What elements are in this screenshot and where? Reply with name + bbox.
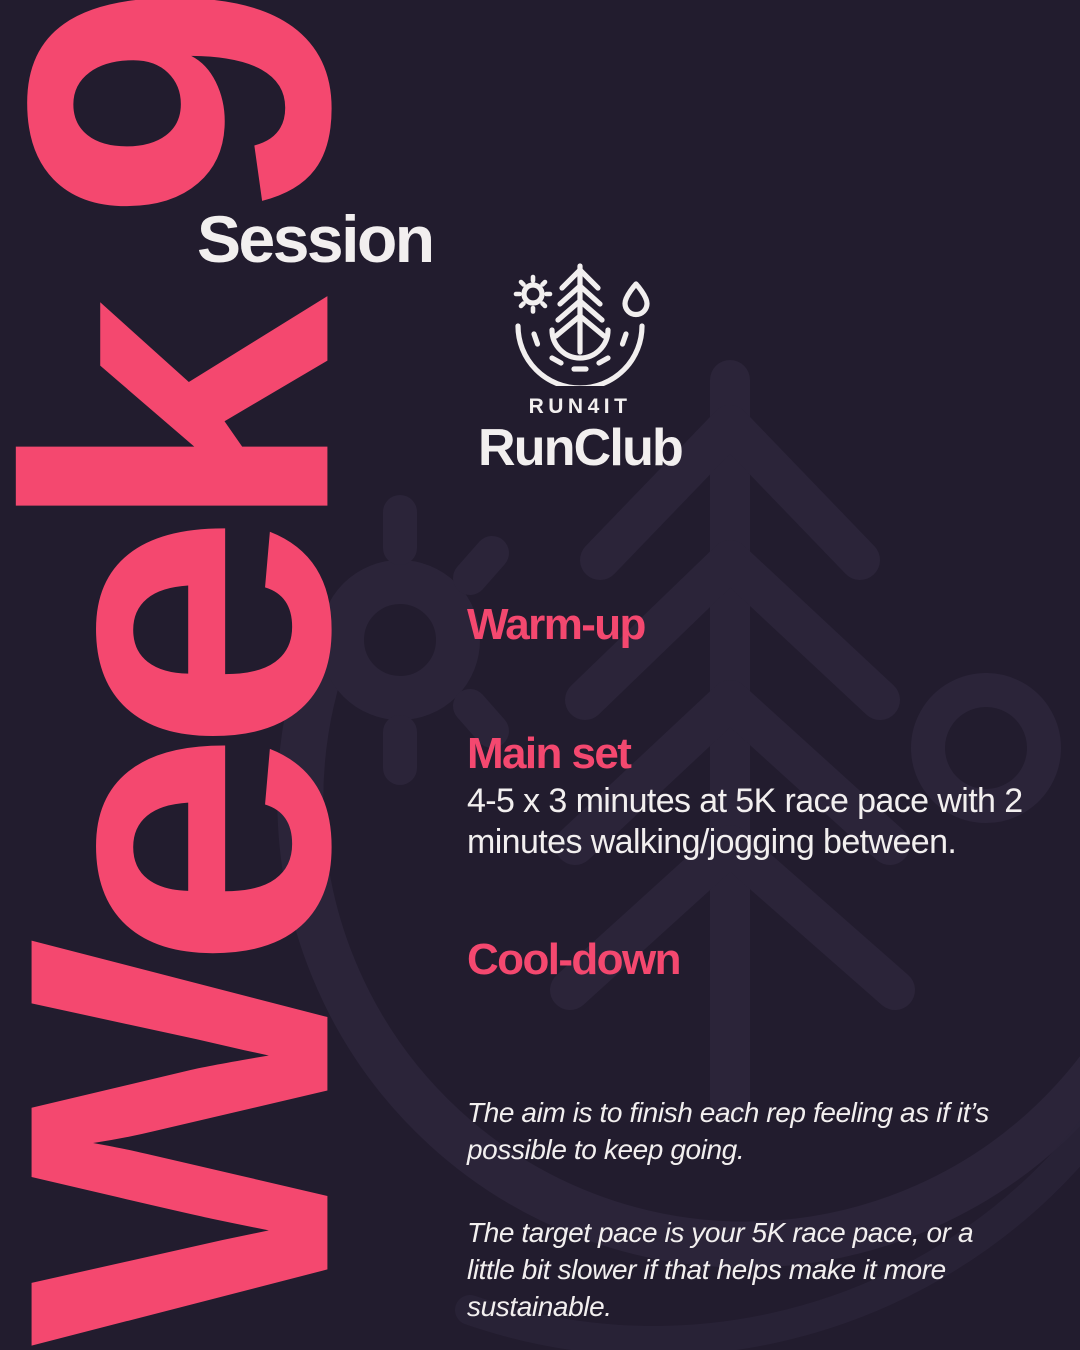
session-block-heading: Cool-down [467, 935, 1037, 984]
session-blocks: Warm-up Main set 4-5 x 3 minutes at 5K r… [467, 600, 1037, 987]
spacer [467, 863, 1037, 935]
logo-brand-small: RUN4IT [475, 396, 685, 417]
content-column: Session [467, 0, 1037, 1350]
session-title: Session [197, 206, 433, 272]
logo-brand-large: RunClub [475, 421, 685, 476]
session-block-main-set: Main set 4-5 x 3 minutes at 5K race pace… [467, 729, 1037, 863]
session-block-heading: Main set [467, 729, 1037, 778]
coaching-notes: The aim is to finish each rep feeling as… [467, 1095, 1027, 1326]
session-block-heading: Warm-up [467, 600, 1037, 649]
session-block-cool-down: Cool-down [467, 935, 1037, 984]
run4it-outdoors-mark-icon [496, 258, 664, 386]
session-block-warm-up: Warm-up [467, 600, 1037, 649]
spacer [467, 651, 1037, 729]
poster-root: Week 9 Session [0, 0, 1080, 1350]
runclub-logo: RUN4IT RunClub [475, 258, 685, 476]
session-block-body: 4-5 x 3 minutes at 5K race pace with 2 m… [467, 781, 1037, 864]
coaching-note: The target pace is your 5K race pace, or… [467, 1215, 1027, 1326]
coaching-note: The aim is to finish each rep feeling as… [467, 1095, 1027, 1169]
